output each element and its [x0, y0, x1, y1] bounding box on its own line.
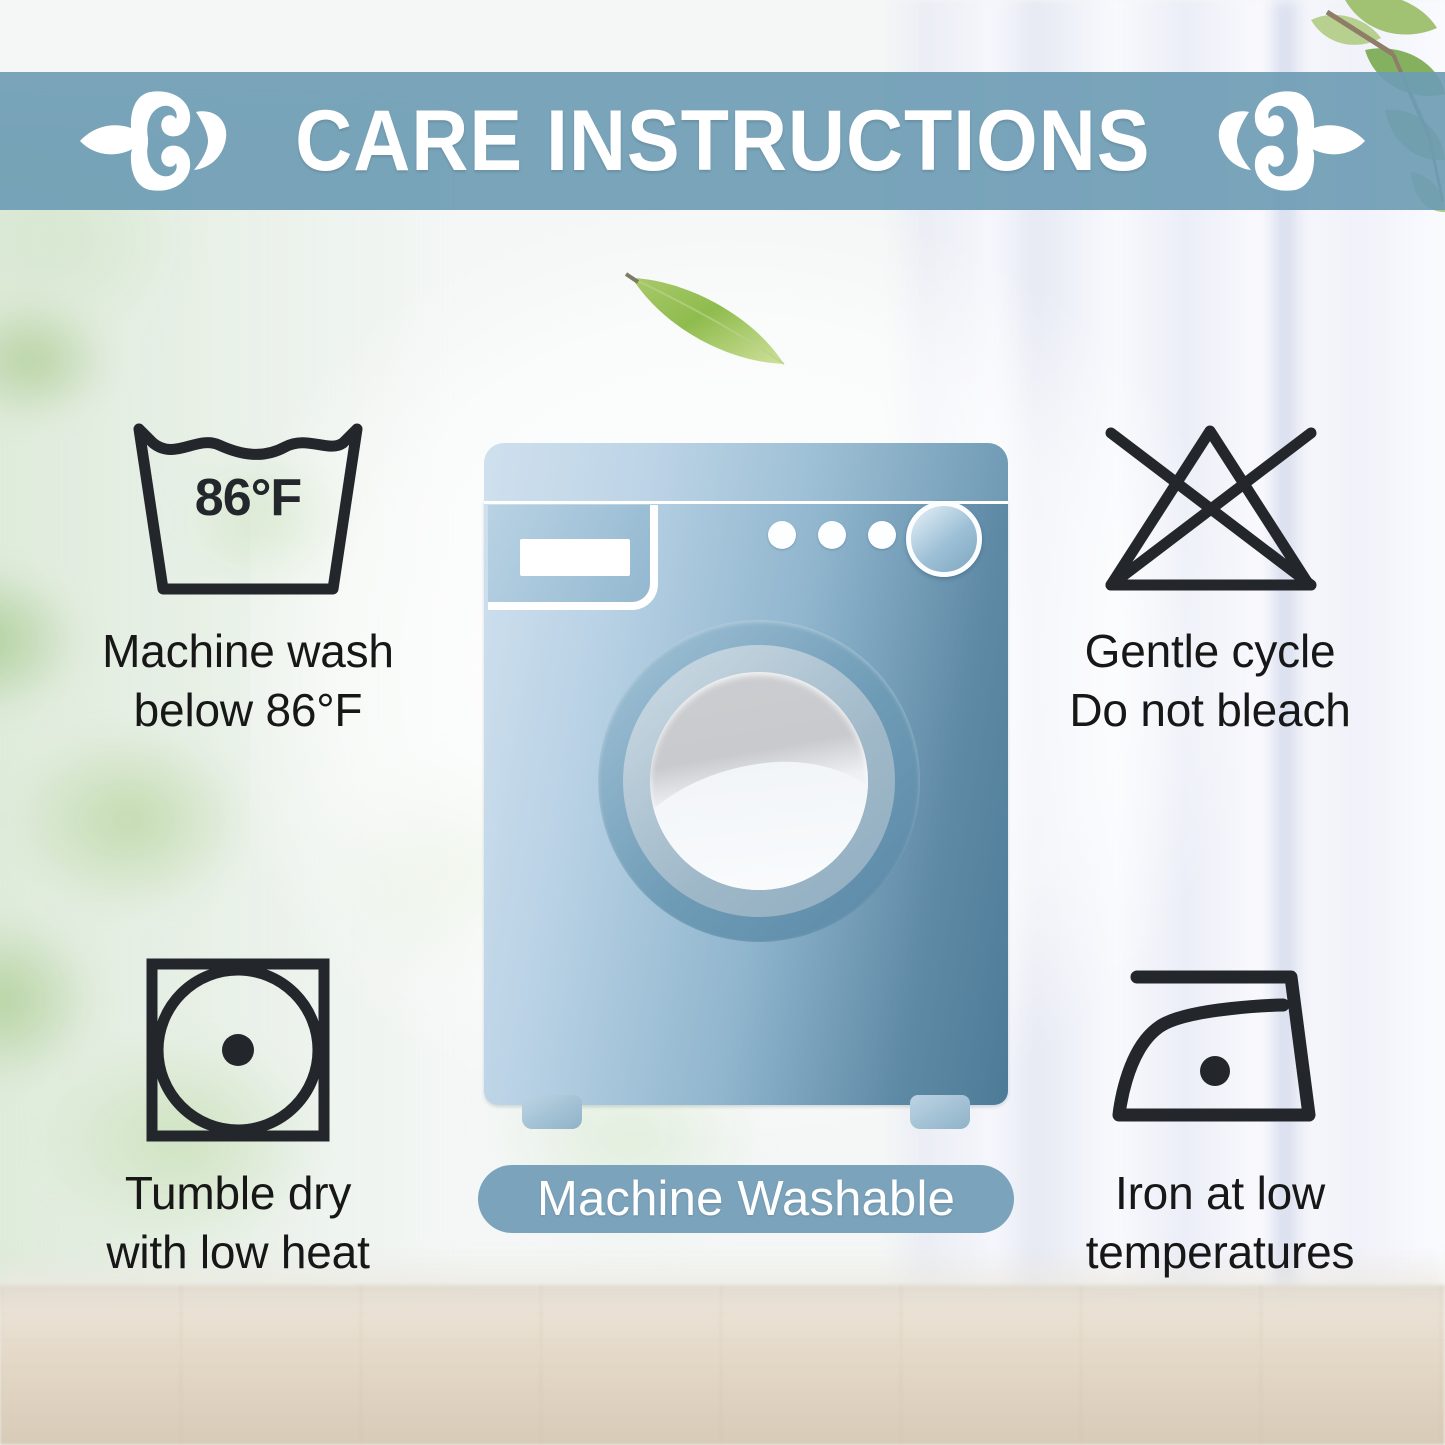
machine-foot	[522, 1095, 582, 1129]
tumble-dry-low-icon	[28, 950, 448, 1150]
indicator-light	[868, 521, 896, 549]
care-item-label: Gentle cycle Do not bleach	[1000, 622, 1420, 740]
care-item-tumble-dry: Tumble dry with low heat	[28, 950, 448, 1282]
care-item-iron-low: Iron at low temperatures	[1010, 950, 1430, 1282]
door-inner-ring	[623, 645, 895, 917]
machine-door	[598, 620, 920, 942]
machine-top-panel	[484, 443, 1008, 504]
wood-surface	[0, 1285, 1445, 1445]
badge-label: Machine Washable	[537, 1171, 955, 1227]
wash-tub-icon: 86°F	[38, 408, 458, 608]
green-leaf-icon	[624, 266, 792, 370]
iron-one-dot-icon	[1010, 950, 1430, 1150]
crossed-triangle-icon	[1000, 408, 1420, 608]
header-banner: CARE INSTRUCTIONS	[0, 72, 1445, 210]
care-item-machine-wash: 86°F Machine wash below 86°F	[38, 408, 458, 740]
fleur-de-lis-icon	[1217, 86, 1367, 196]
machine-foot	[910, 1095, 970, 1129]
indicator-light	[768, 521, 796, 549]
care-item-label: Tumble dry with low heat	[28, 1164, 448, 1282]
door-glass-highlight	[650, 749, 868, 890]
care-instructions-graphic: CARE INSTRUCTIONS 86°F Machine wash belo…	[0, 0, 1445, 1445]
washing-machine-illustration	[478, 443, 1014, 1115]
wash-temperature-value: 86°F	[38, 468, 458, 528]
machine-washable-badge: Machine Washable	[478, 1165, 1014, 1233]
control-indicator-lights	[768, 521, 896, 549]
detergent-drawer-slot	[520, 539, 630, 576]
care-item-do-not-bleach: Gentle cycle Do not bleach	[1000, 408, 1420, 740]
program-knob	[906, 501, 982, 577]
care-item-label: Machine wash below 86°F	[38, 622, 458, 740]
detergent-drawer	[488, 505, 658, 610]
door-glass	[650, 672, 868, 890]
page-title: CARE INSTRUCTIONS	[295, 92, 1150, 191]
indicator-light	[818, 521, 846, 549]
care-item-label: Iron at low temperatures	[1010, 1164, 1430, 1282]
fleur-de-lis-icon	[78, 86, 228, 196]
